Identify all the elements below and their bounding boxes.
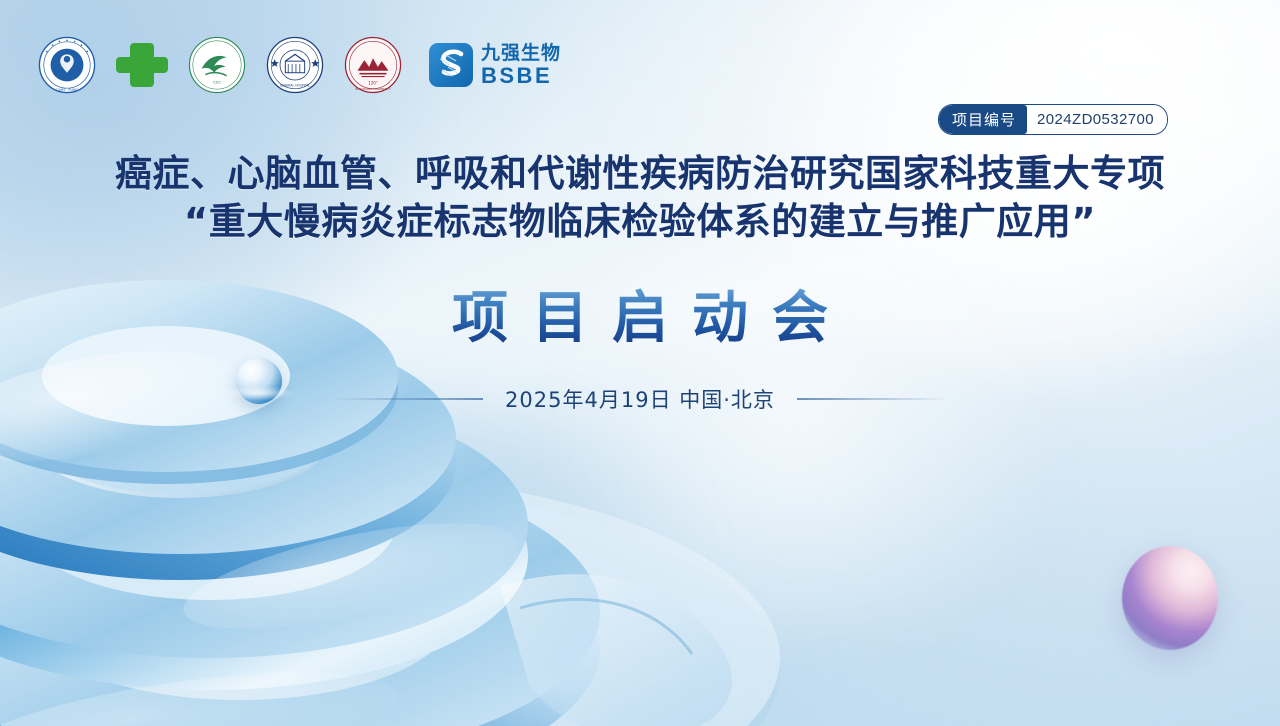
- partner-logo-bar: CAMS · PUMC CDC: [38, 36, 561, 94]
- project-number-label: 项目编号: [939, 105, 1027, 134]
- title-block: 癌症、心脑血管、呼吸和代谢性疾病防治研究国家科技重大专项 “重大慢病炎症标志物临…: [0, 152, 1280, 248]
- poster-canvas: CAMS · PUMC CDC: [0, 0, 1280, 726]
- background-glow-bottom-left: [0, 396, 760, 726]
- seal-shandong-university-icon: 120° SHANDONG UNIVERSITY: [344, 36, 402, 94]
- svg-text:120°: 120°: [368, 80, 378, 85]
- svg-text:CDC: CDC: [213, 79, 222, 84]
- svg-text:GENERAL HOSPITAL: GENERAL HOSPITAL: [280, 83, 311, 87]
- divider-line-right: [797, 398, 947, 399]
- svg-text:CAMS · PUMC: CAMS · PUMC: [56, 88, 79, 92]
- bsbe-cn-label: 九强生物: [481, 44, 561, 63]
- seal-green-institute-icon: CDC: [188, 36, 246, 94]
- project-number-badge: 项目编号 2024ZD0532700: [938, 104, 1168, 135]
- date-location-text: 2025年4月19日 中国·北京: [505, 384, 775, 414]
- bsbe-mark-icon: [428, 42, 474, 88]
- title-line-2: “重大慢病炎症标志物临床检验体系的建立与推广应用”: [0, 196, 1280, 248]
- iridescent-sphere: [1122, 546, 1218, 650]
- title-line-1: 癌症、心脑血管、呼吸和代谢性疾病防治研究国家科技重大专项: [0, 152, 1280, 196]
- background-glow-center: [486, 218, 1106, 638]
- divider-line-left: [333, 398, 483, 399]
- event-headline: 项目启动会: [0, 284, 1280, 354]
- seal-navy-university-icon: GENERAL HOSPITAL: [266, 36, 324, 94]
- green-medical-cross-icon: [116, 39, 168, 91]
- seal-cams-pumc-icon: CAMS · PUMC: [38, 36, 96, 94]
- project-number-value: 2024ZD0532700: [1027, 105, 1167, 134]
- bsbe-en-label: BSBE: [481, 65, 561, 87]
- svg-text:SHANDONG UNIVERSITY: SHANDONG UNIVERSITY: [355, 87, 390, 91]
- bsbe-logo: 九强生物 BSBE: [428, 42, 561, 88]
- date-location-row: 2025年4月19日 中国·北京: [0, 384, 1280, 414]
